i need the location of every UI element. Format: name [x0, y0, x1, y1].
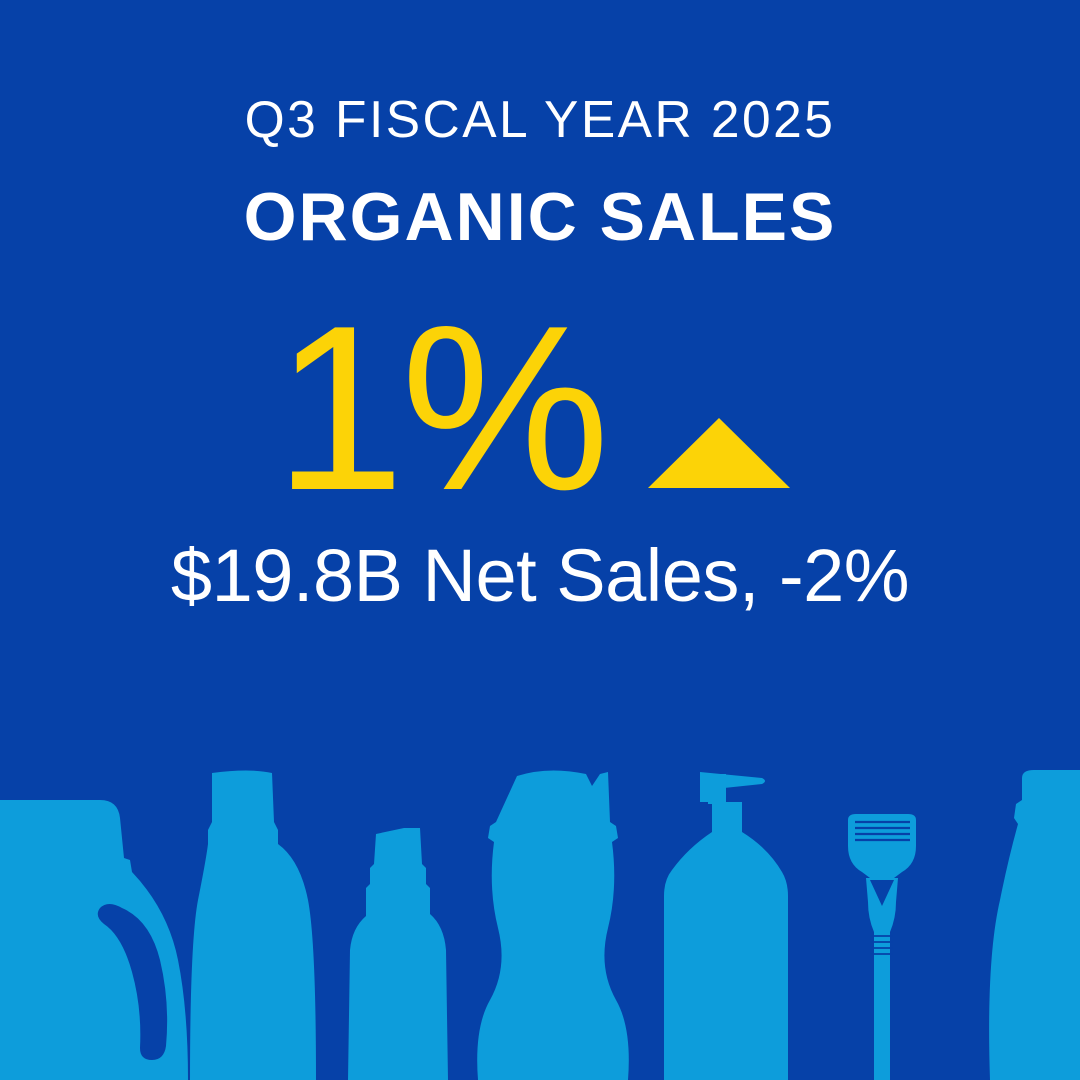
organic-sales-value: 1%: [0, 300, 980, 515]
pump-cosmetic-bottle-silhouette: [348, 828, 448, 1080]
neck-bottle-silhouette: [190, 771, 316, 1080]
flask-bottle-silhouette: [477, 770, 629, 1080]
razor-silhouette: [848, 814, 916, 1080]
net-sales-subline: $19.8B Net Sales, -2%: [0, 530, 1080, 623]
infographic-canvas: Q3 FISCAL YEAR 2025 ORGANIC SALES 1% $19…: [0, 0, 1080, 1080]
product-silhouette-band: [0, 760, 1080, 1080]
pump-dispenser-silhouette: [664, 772, 788, 1080]
headline-stat-row: 1%: [0, 300, 1080, 515]
shampoo-bottle-silhouette: [989, 770, 1080, 1080]
triangle-up-icon: [648, 418, 790, 488]
page-title: ORGANIC SALES: [0, 183, 1080, 251]
detergent-jug-silhouette: [0, 800, 188, 1080]
fiscal-period-eyebrow: Q3 FISCAL YEAR 2025: [5, 94, 1074, 146]
